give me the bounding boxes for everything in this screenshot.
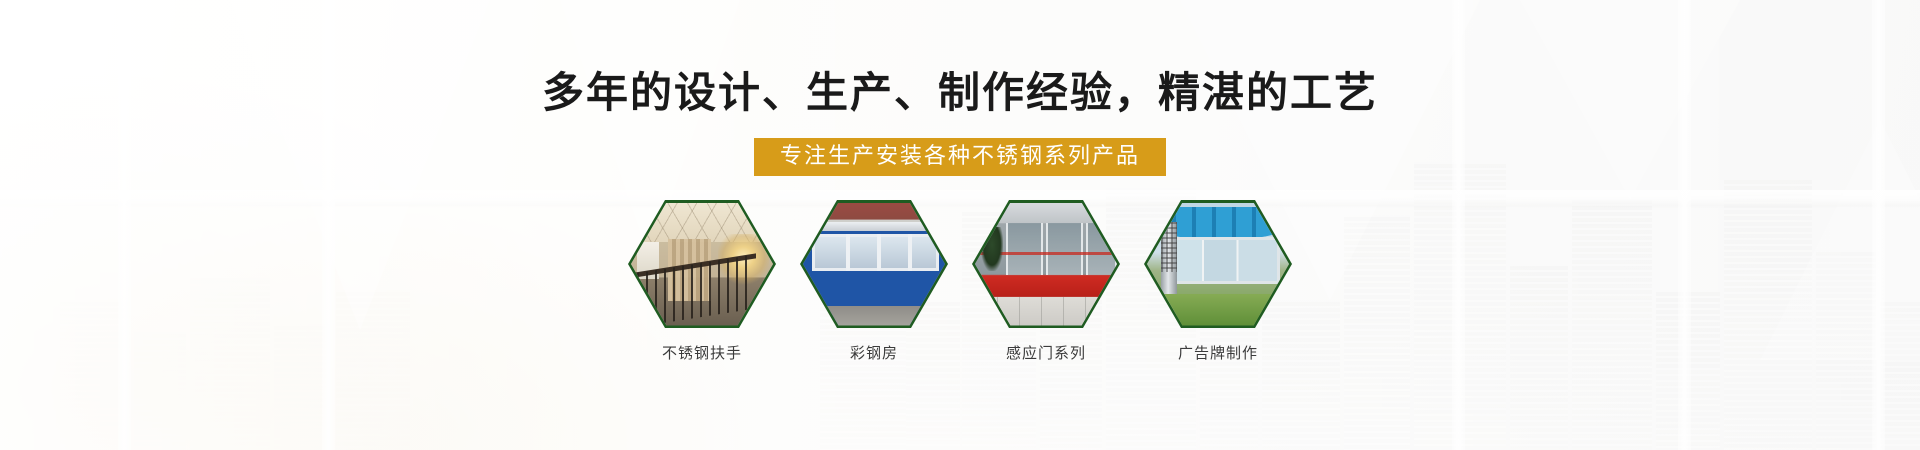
- product-card-caption: 彩钢房: [850, 342, 898, 363]
- promo-banner: 多年的设计、生产、制作经验，精湛的工艺 专注生产安装各种不锈钢系列产品: [0, 0, 1920, 450]
- banner-subtitle-badge: 专注生产安装各种不锈钢系列产品: [754, 138, 1166, 176]
- product-image-sensor-door: [975, 203, 1117, 326]
- hexagon-frame: [800, 200, 948, 328]
- hexagon-frame: [1144, 200, 1292, 328]
- product-image-steel-house: [803, 203, 945, 326]
- product-card-caption: 感应门系列: [1006, 342, 1086, 363]
- product-card-caption: 广告牌制作: [1178, 342, 1258, 363]
- product-card-billboard[interactable]: 广告牌制作: [1144, 200, 1292, 363]
- banner-subtitle-container: 专注生产安装各种不锈钢系列产品: [0, 138, 1920, 176]
- product-card-steel-house[interactable]: 彩钢房: [800, 200, 948, 363]
- hexagon-frame: [628, 200, 776, 328]
- banner-content: 多年的设计、生产、制作经验，精湛的工艺 专注生产安装各种不锈钢系列产品: [0, 0, 1920, 450]
- product-card-list: 不锈钢扶手 彩钢房: [0, 200, 1920, 363]
- product-card-handrail[interactable]: 不锈钢扶手: [628, 200, 776, 363]
- banner-headline: 多年的设计、生产、制作经验，精湛的工艺: [0, 72, 1920, 114]
- product-card-sensor-door[interactable]: 感应门系列: [972, 200, 1120, 363]
- product-card-caption: 不锈钢扶手: [662, 342, 742, 363]
- product-image-handrail: [631, 203, 773, 326]
- hexagon-frame: [972, 200, 1120, 328]
- product-image-billboard: [1147, 203, 1289, 326]
